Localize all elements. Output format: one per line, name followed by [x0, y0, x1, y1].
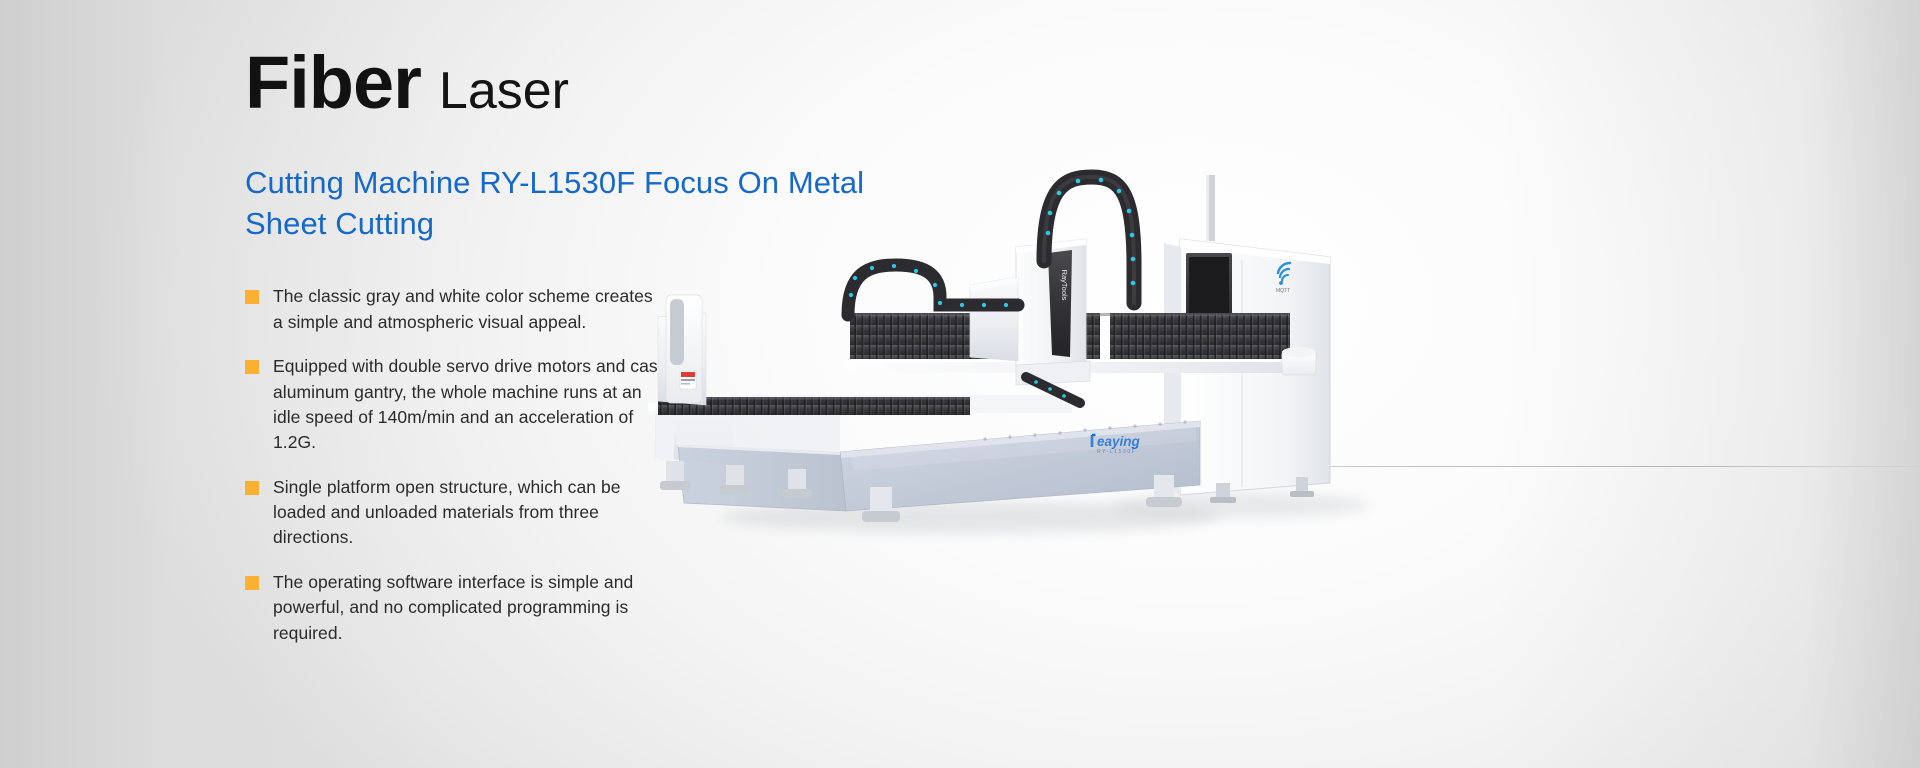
- feature-text: Single platform open structure, which ca…: [273, 475, 665, 551]
- hero-banner: Fiber Laser Cutting Machine RY-L1530F Fo…: [0, 0, 1920, 768]
- cabinet-foot: [1216, 483, 1230, 499]
- raytools-label: RayTools: [1060, 270, 1069, 301]
- page-title: Fiber Laser: [245, 46, 945, 120]
- feature-text: Equipped with double servo drive motors …: [273, 354, 665, 456]
- gantry-left-post: [658, 295, 706, 405]
- list-item: The classic gray and white color scheme …: [245, 284, 665, 335]
- product-image: MQTT: [640, 165, 1380, 565]
- bullet-square-icon: [245, 576, 259, 590]
- bullet-square-icon: [245, 481, 259, 495]
- bullet-square-icon: [245, 360, 259, 374]
- laser-mast: [1206, 175, 1215, 241]
- feature-list: The classic gray and white color scheme …: [245, 284, 665, 646]
- raytools-strip: [1048, 250, 1072, 357]
- rail-end-cap: [1282, 347, 1316, 375]
- bullet-square-icon: [245, 290, 259, 304]
- svg-text:MQTT: MQTT: [1276, 288, 1290, 294]
- post-grip: [670, 299, 684, 365]
- list-item: Equipped with double servo drive motors …: [245, 354, 665, 456]
- feature-text: The classic gray and white color scheme …: [273, 284, 665, 335]
- list-item: Single platform open structure, which ca…: [245, 475, 665, 551]
- feature-text: The operating software interface is simp…: [273, 570, 665, 646]
- cabinet-foot: [1296, 477, 1308, 493]
- svg-text:RY-L1530F: RY-L1530F: [1097, 449, 1136, 455]
- title-light: Laser: [439, 65, 569, 117]
- title-strong: Fiber: [245, 46, 421, 120]
- list-item: The operating software interface is simp…: [245, 570, 665, 646]
